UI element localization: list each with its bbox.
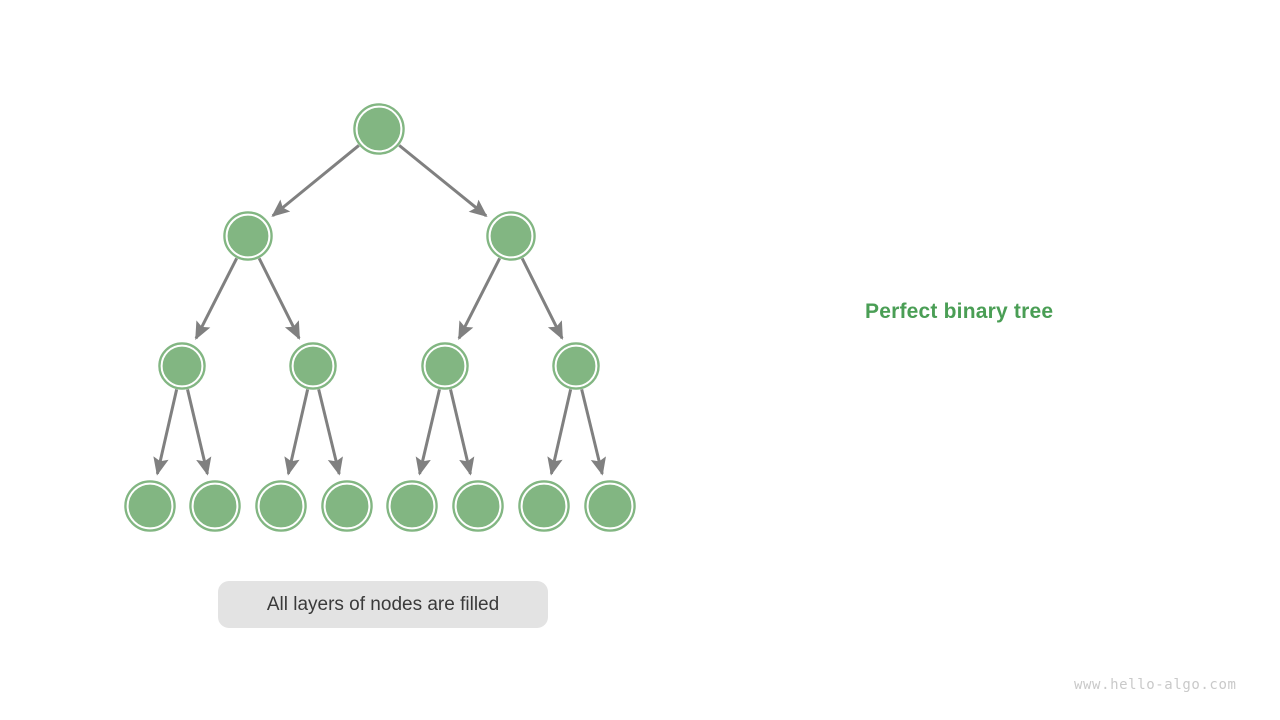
tree-node: [159, 343, 205, 389]
tree-node: [387, 481, 437, 531]
tree-edge: [451, 389, 471, 474]
tree-edge: [551, 389, 570, 473]
tree-node-disc: [426, 347, 464, 385]
tree-node-disc: [260, 485, 302, 527]
tree-node: [453, 481, 503, 531]
tree-node-disc: [228, 216, 268, 256]
tree-node: [190, 481, 240, 531]
tree-edge: [522, 258, 562, 338]
tree-node-disc: [491, 216, 531, 256]
tree-node-disc: [129, 485, 171, 527]
tree-node-disc: [457, 485, 499, 527]
tree-node-disc: [589, 485, 631, 527]
tree-edge: [399, 145, 486, 215]
tree-node-layer: [125, 104, 635, 531]
tree-node: [422, 343, 468, 389]
tree-edge: [459, 258, 500, 338]
tree-edge: [273, 145, 359, 215]
tree-node: [125, 481, 175, 531]
page-title: Perfect binary tree: [865, 300, 1053, 324]
tree-node-disc: [557, 347, 595, 385]
tree-node-disc: [326, 485, 368, 527]
binary-tree-graphic: [0, 0, 1280, 720]
tree-edge: [259, 258, 299, 338]
tree-node-disc: [391, 485, 433, 527]
diagram-stage: Perfect binary tree All layers of nodes …: [0, 0, 1280, 720]
tree-node: [519, 481, 569, 531]
tree-node: [487, 212, 535, 260]
tree-node: [322, 481, 372, 531]
watermark-url: www.hello-algo.com: [1074, 677, 1237, 693]
tree-edge: [420, 389, 440, 474]
tree-node-disc: [163, 347, 201, 385]
tree-edge: [157, 389, 176, 473]
tree-edge: [196, 258, 237, 338]
tree-edge-layer: [157, 145, 602, 474]
caption-box: All layers of nodes are filled: [218, 581, 548, 628]
tree-node-disc: [194, 485, 236, 527]
tree-node: [224, 212, 272, 260]
tree-edge: [319, 389, 340, 474]
tree-node: [585, 481, 635, 531]
tree-node: [354, 104, 404, 154]
caption-label: All layers of nodes are filled: [267, 594, 499, 616]
tree-edge: [288, 389, 307, 473]
tree-node-disc: [358, 108, 400, 150]
tree-edge: [582, 389, 603, 474]
tree-node: [256, 481, 306, 531]
tree-node-disc: [523, 485, 565, 527]
tree-node-disc: [294, 347, 332, 385]
tree-node: [290, 343, 336, 389]
tree-node: [553, 343, 599, 389]
tree-edge: [188, 389, 208, 474]
